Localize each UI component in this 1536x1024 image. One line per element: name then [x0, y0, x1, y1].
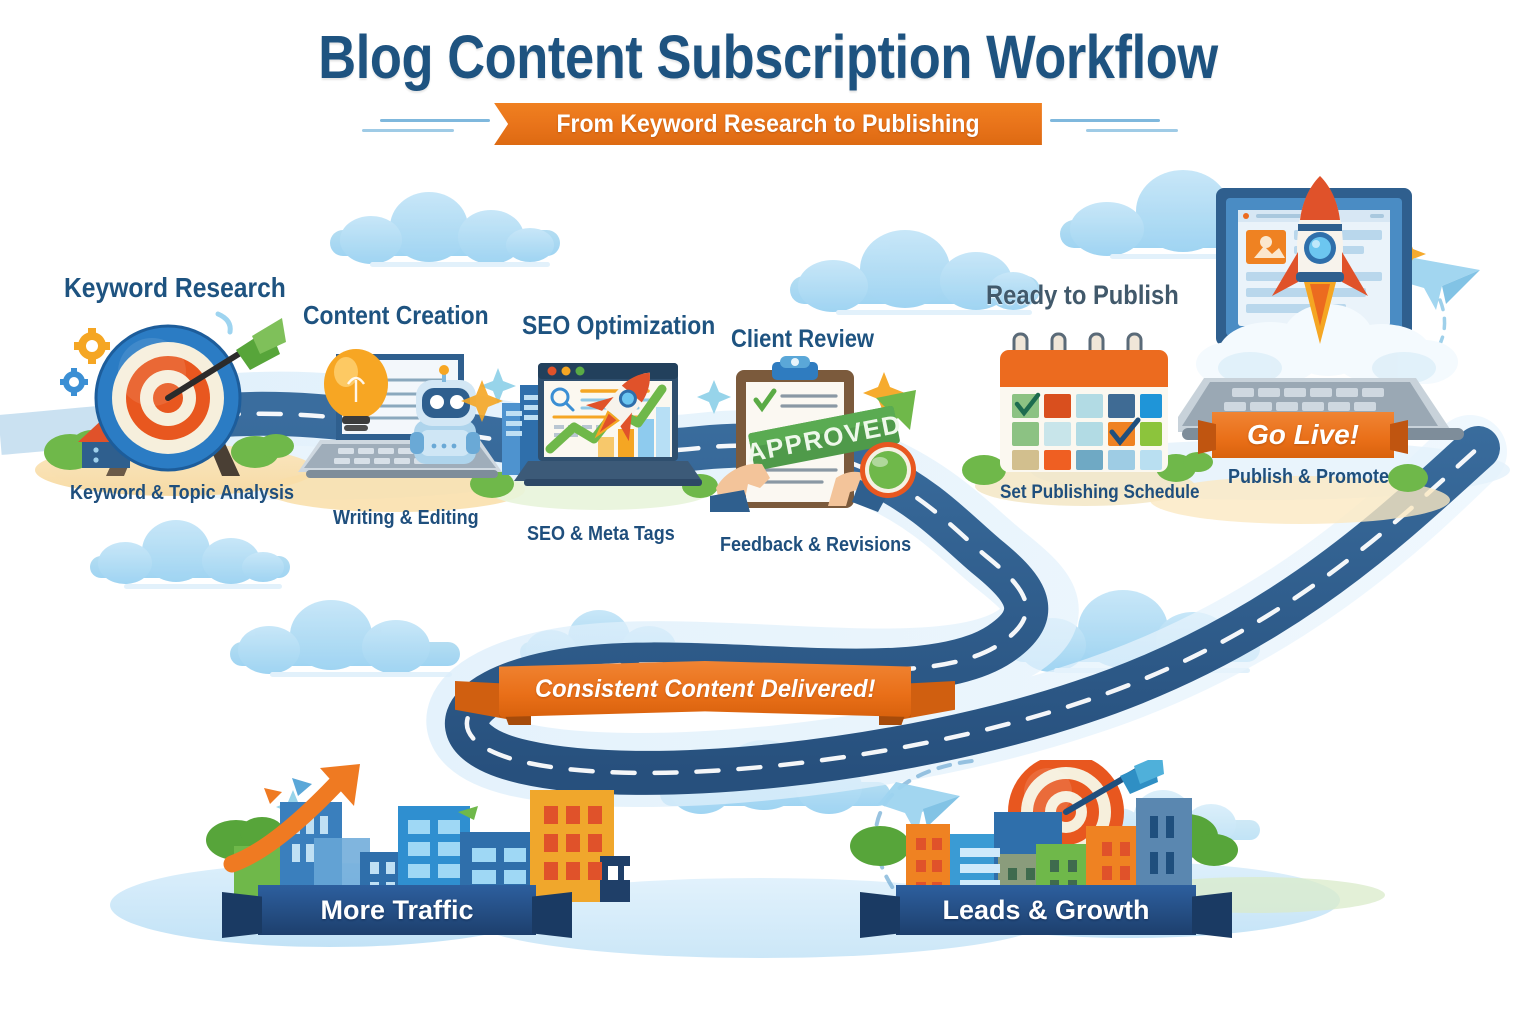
subtitle-banner: From Keyword Research to Publishing [494, 103, 1042, 145]
step-title-ready-to-publish: Ready to Publish [986, 280, 1179, 311]
infographic-canvas: Blog Content Subscription Workflow From … [0, 0, 1536, 1024]
step-subtitle-seo-optimization: SEO & Meta Tags [527, 523, 675, 546]
step-subtitle-client-review: Feedback & Revisions [720, 534, 911, 557]
more-traffic-label: More Traffic [320, 895, 473, 926]
ribbon-tail-right [1390, 420, 1408, 454]
subtitle-banner-group: From Keyword Research to Publishing [0, 103, 1536, 147]
step-title-seo-optimization: SEO Optimization [522, 310, 715, 341]
target-bullseye-icon [40, 300, 290, 490]
delivered-banner-text: Consistent Content Delivered! [535, 675, 875, 704]
step-subtitle-keyword-research: Keyword & Topic Analysis [70, 482, 294, 505]
step-title-content-creation: Content Creation [303, 300, 489, 331]
step-title-client-review: Client Review [731, 325, 874, 354]
traffic-ribbon-tail-right [532, 892, 572, 938]
browser-chart-rocket-icon [498, 345, 708, 500]
traffic-ribbon-tail-left [222, 892, 262, 938]
subtitle-text: From Keyword Research to Publishing [556, 110, 979, 139]
step-subtitle-content-creation: Writing & Editing [333, 507, 479, 530]
delivered-banner-group: Consistent Content Delivered! [455, 655, 955, 735]
leads-growth-label: Leads & Growth [942, 895, 1149, 926]
leads-growth-ribbon: Leads & Growth [896, 885, 1196, 935]
clipboard-approved-icon: APPROVED [710, 352, 930, 512]
laptop-robot-lightbulb-icon [292, 336, 507, 498]
page-title: Blog Content Subscription Workflow [108, 22, 1429, 92]
leads-ribbon-tail-right [1192, 892, 1232, 938]
delivered-banner: Consistent Content Delivered! [499, 661, 911, 717]
step-subtitle-ready-to-publish: Set Publishing Schedule [1000, 482, 1200, 504]
leads-ribbon-tail-left [860, 892, 900, 938]
go-live-ribbon: Go Live! [1212, 412, 1394, 458]
go-live-label: Go Live! [1247, 419, 1359, 451]
ribbon-tail-left [1198, 420, 1216, 454]
more-traffic-ribbon: More Traffic [258, 885, 536, 935]
calendar-icon [990, 328, 1180, 488]
step-subtitle-publish-promote: Publish & Promote [1228, 466, 1389, 489]
